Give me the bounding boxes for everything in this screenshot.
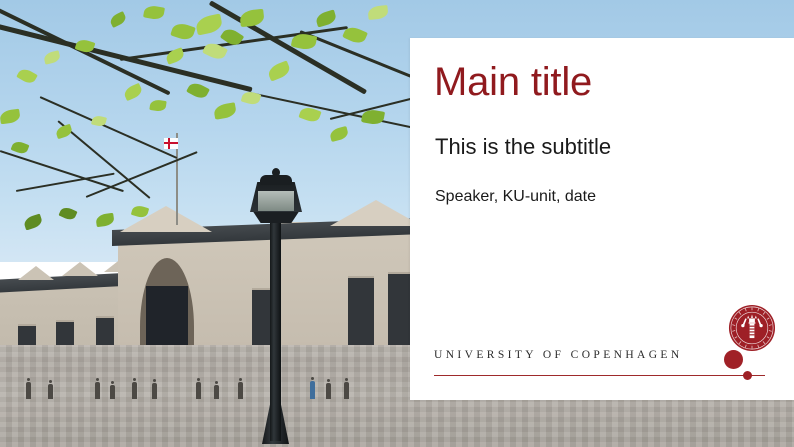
person [26,382,31,399]
speaker-line: Speaker, KU-unit, date [435,186,596,208]
person [196,382,201,399]
person [214,385,219,399]
decorative-dot-large [724,350,743,369]
lamppost-finial [272,168,280,177]
person [152,383,157,399]
person [238,382,243,399]
entrance-window [146,286,188,352]
person [132,382,137,399]
page-subtitle: This is the subtitle [435,133,611,161]
page-title: Main title [434,58,592,106]
dormer-2 [62,262,98,276]
pediment-right [330,200,422,226]
person [344,382,349,399]
decorative-dot-small [743,371,752,380]
person [326,383,331,399]
university-wordmark: UNIVERSITY OF COPENHAGEN [434,349,683,361]
footer-divider [434,375,765,376]
danish-flag-icon [164,138,178,149]
title-panel: Main title This is the subtitle Speaker,… [410,38,794,400]
person [48,384,53,399]
window-r2 [348,276,374,352]
person [310,381,315,399]
lamppost-glass [258,191,294,211]
presentation-slide: Main title This is the subtitle Speaker,… [0,0,794,447]
lamppost-column [270,206,281,441]
person [95,382,100,399]
university-seal-icon [728,304,776,352]
dormer-1 [18,266,54,280]
person [110,385,115,399]
